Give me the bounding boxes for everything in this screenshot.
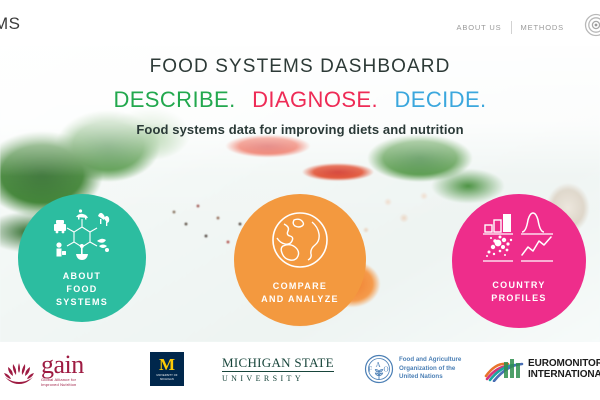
cta-country-profiles[interactable]: COUNTRY PROFILES (452, 194, 586, 328)
food-system-hexagon-icon (49, 207, 115, 263)
msu-line-2: UNIVERSITY (222, 374, 334, 384)
site-logo-text[interactable]: MS (0, 14, 21, 34)
fao-name: Food and Agriculture Organization of the… (399, 356, 461, 381)
header-nav: ABOUT US METHODS (457, 21, 564, 34)
partner-logo-bar: gain Global Alliance for Improved Nutrit… (0, 342, 600, 400)
svg-text:O: O (384, 366, 389, 374)
hero-banner: FOOD SYSTEMS DASHBOARD DESCRIBE. DIAGNOS… (0, 46, 600, 342)
partner-logo-euromonitor[interactable]: EUROMONITOR INTERNATIONAL (484, 356, 600, 382)
svg-text:A: A (376, 361, 381, 369)
globe-icon (270, 210, 330, 270)
tagline-verbs: DESCRIBE. DIAGNOSE. DECIDE. (0, 87, 600, 113)
partner-logo-gain[interactable]: gain Global Alliance for Improved Nutrit… (2, 354, 84, 388)
page-title: FOOD SYSTEMS DASHBOARD (0, 56, 600, 78)
cta-about-label: ABOUT FOOD SYSTEMS (56, 270, 108, 309)
euromonitor-mark-icon (484, 356, 524, 382)
nav-link-about-us[interactable]: ABOUT US (457, 23, 502, 32)
cta-compare-label: COMPARE AND ANALYZE (261, 280, 339, 306)
verb-diagnose: DIAGNOSE. (252, 87, 378, 112)
umich-block-m: M (159, 357, 175, 373)
cta-compare-and-analyze[interactable]: COMPARE AND ANALYZE (234, 194, 366, 326)
gain-wheat-icon (2, 357, 36, 385)
gain-wordmark: gain (41, 354, 84, 376)
verb-decide: DECIDE. (395, 87, 487, 112)
cta-about-food-systems[interactable]: ABOUT FOOD SYSTEMS (18, 194, 146, 322)
hero-text-block: FOOD SYSTEMS DASHBOARD DESCRIBE. DIAGNOS… (0, 56, 600, 137)
charts-grid-icon (481, 211, 557, 267)
umich-subtext: UNIVERSITY OF MICHIGAN (156, 374, 177, 381)
page-subtitle: Food systems data for improving diets an… (0, 122, 600, 137)
site-header: MS ABOUT US METHODS (0, 0, 600, 46)
partner-logo-university-of-michigan[interactable]: M UNIVERSITY OF MICHIGAN (150, 352, 184, 386)
fao-emblem-icon: F A O (364, 354, 394, 384)
nav-divider (511, 21, 512, 34)
cta-country-label: COUNTRY PROFILES (491, 279, 546, 305)
partner-logo-michigan-state[interactable]: MICHIGAN STATE UNIVERSITY (222, 356, 334, 384)
nav-link-methods[interactable]: METHODS (521, 23, 564, 32)
euromonitor-name: EUROMONITOR INTERNATIONAL (528, 358, 600, 381)
msu-line-1: MICHIGAN STATE (222, 356, 334, 372)
partner-logo-fao[interactable]: F A O Food and Agriculture Organization … (364, 354, 461, 384)
globe-target-icon[interactable] (584, 13, 600, 37)
verb-describe: DESCRIBE. (113, 87, 235, 112)
svg-text:F: F (368, 366, 372, 374)
